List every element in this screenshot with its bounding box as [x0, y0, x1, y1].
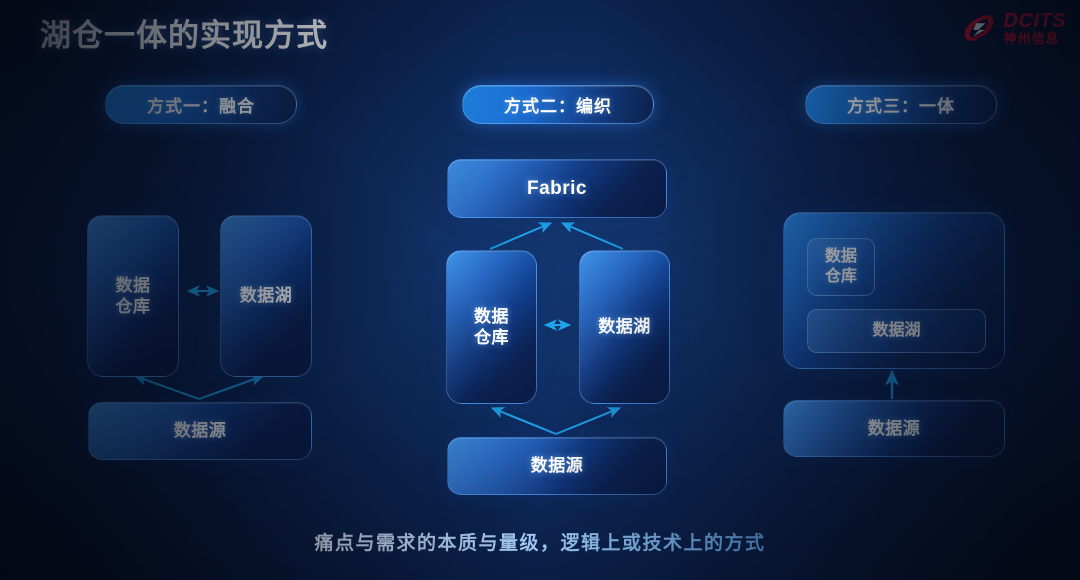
pill-fusion[interactable]: 方式一：融合	[105, 85, 297, 124]
col1-data-lake-label: 数据湖	[240, 285, 293, 306]
arrow-source-to-lake	[199, 376, 263, 399]
col1-data-source[interactable]: 数据源	[88, 402, 312, 460]
arrow-source-to-warehouse	[135, 376, 199, 399]
page-title: 湖仓一体的实现方式	[40, 10, 328, 55]
col3-data-lake-label: 数据湖	[872, 321, 920, 341]
col3-data-warehouse-label: 数据仓库	[825, 247, 857, 287]
logo-text-en: DCITS	[1004, 11, 1067, 31]
col2-data-lake[interactable]: 数据湖	[579, 250, 670, 404]
arrow-source-to-lake	[556, 408, 620, 434]
col3-data-lake[interactable]: 数据湖	[807, 309, 986, 353]
col2-data-source[interactable]: 数据源	[447, 437, 667, 495]
slide-canvas: 湖仓一体的实现方式 DCITS 神州信息 方式一：融合 方式二：编织 方式三：一…	[0, 0, 1080, 580]
col3-data-source[interactable]: 数据源	[783, 400, 1005, 457]
brand-logo: DCITS 神州信息	[960, 6, 1067, 50]
col1-data-warehouse[interactable]: 数据仓库	[87, 215, 179, 377]
col2-fabric[interactable]: Fabric	[447, 159, 667, 218]
footer-note: 痛点与需求的本质与量级，逻辑上或技术上的方式	[0, 528, 1080, 555]
col2-fabric-label: Fabric	[527, 177, 587, 201]
col2-data-lake-label: 数据湖	[598, 316, 651, 337]
col3-data-source-label: 数据源	[868, 418, 921, 439]
col2-data-source-label: 数据源	[531, 455, 584, 476]
logo-text-cn: 神州信息	[1004, 32, 1067, 45]
pill-weaving[interactable]: 方式二：编织	[462, 85, 654, 124]
pill-unified[interactable]: 方式三：一体	[805, 85, 997, 124]
col1-data-warehouse-label: 数据仓库	[116, 275, 151, 318]
col2-data-warehouse-label: 数据仓库	[474, 306, 509, 349]
dcits-swirl-icon	[960, 11, 998, 45]
col1-data-lake[interactable]: 数据湖	[220, 215, 312, 377]
col2-data-warehouse[interactable]: 数据仓库	[446, 250, 537, 404]
col3-lakehouse-container[interactable]: 数据仓库 数据湖	[783, 212, 1005, 369]
col1-data-source-label: 数据源	[174, 420, 227, 441]
col3-data-warehouse[interactable]: 数据仓库	[807, 238, 875, 296]
arrow-warehouse-to-fabric	[490, 223, 551, 249]
arrow-source-to-warehouse	[492, 408, 556, 434]
arrow-lake-to-fabric	[562, 223, 623, 249]
